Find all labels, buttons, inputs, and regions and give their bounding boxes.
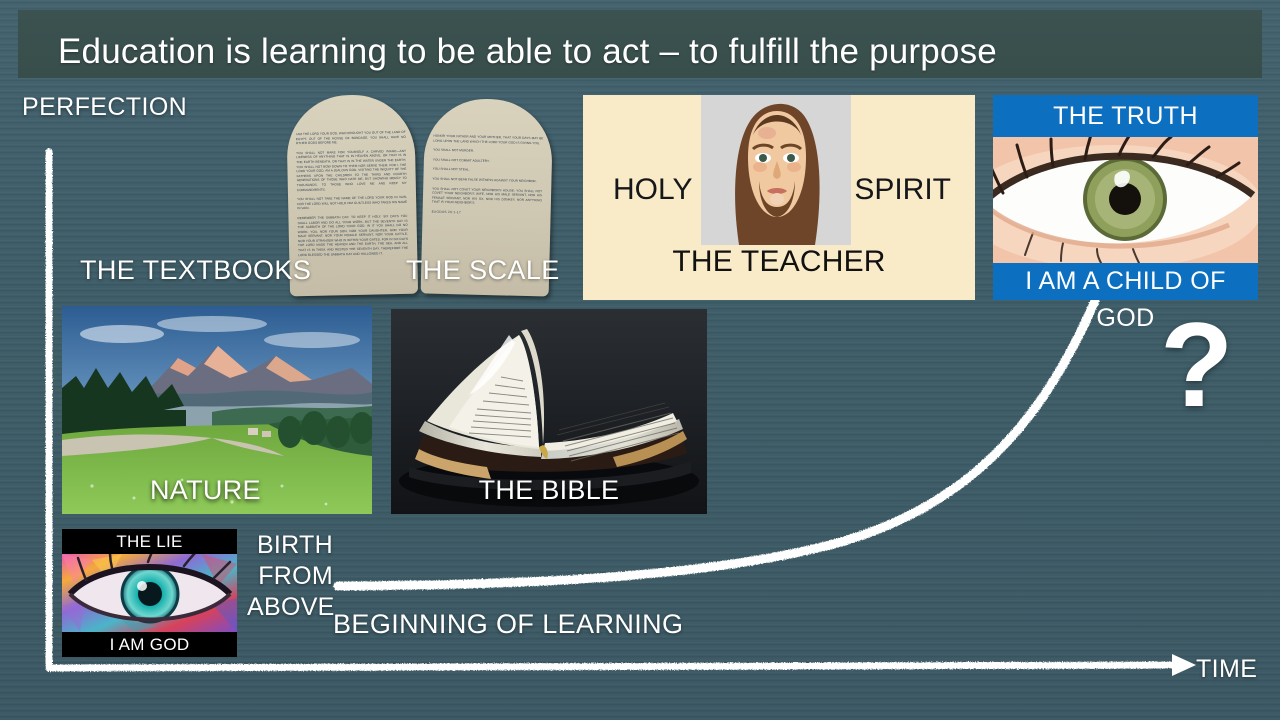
x-axis-arrowhead (1172, 654, 1196, 676)
x-axis-line (49, 665, 1180, 668)
tablet-left-text: I AM THE LORD YOUR GOD, WHO BROUGHT YOU … (296, 130, 409, 263)
nature-photo-card: NATURE (62, 306, 372, 514)
x-axis-label: TIME (1196, 655, 1257, 684)
birth-from-above-annotation: BIRTH FROM ABOVE (247, 530, 333, 623)
tablet-right-text: HONOR YOUR FATHER AND YOUR MOTHER, THAT … (431, 134, 543, 222)
label-holy: HOLY (613, 173, 692, 207)
page-title: Education is learning to be able to act … (58, 32, 997, 72)
birth-line-2: FROM (247, 561, 333, 592)
jesus-portrait-icon (701, 95, 851, 245)
label-nature: NATURE (62, 475, 372, 506)
green-eye-photo (993, 137, 1258, 263)
lie-photo-card: THE LIE (62, 529, 237, 657)
birth-line-1: BIRTH (247, 530, 333, 561)
truth-header: THE TRUTH (993, 95, 1258, 137)
truth-panel: THE TRUTH (993, 95, 1258, 300)
label-the-scale: THE SCALE (406, 255, 560, 286)
lie-footer: I AM GOD (62, 632, 237, 657)
label-the-textbooks: THE TEXTBOOKS (80, 255, 311, 286)
title-banner: Education is learning to be able to act … (18, 10, 1262, 78)
truth-footer: I AM A CHILD OF GOD (993, 263, 1258, 300)
teacher-panel: HOLY SPIRIT THE TEACHER (583, 95, 975, 300)
label-spirit: SPIRIT (854, 173, 951, 207)
question-mark-annotation: ? (1160, 305, 1233, 425)
birth-line-3: ABOVE (247, 592, 333, 623)
label-the-teacher: THE TEACHER (583, 245, 975, 279)
colorful-eye-photo (62, 554, 237, 632)
slide-canvas: Education is learning to be able to act … (0, 0, 1280, 720)
y-axis-label: PERFECTION (22, 93, 187, 122)
bible-photo-card: THE BIBLE (391, 309, 707, 514)
lie-header: THE LIE (62, 529, 237, 554)
label-the-bible: THE BIBLE (391, 475, 707, 506)
origin-annotation: BEGINNING OF LEARNING (333, 609, 683, 640)
